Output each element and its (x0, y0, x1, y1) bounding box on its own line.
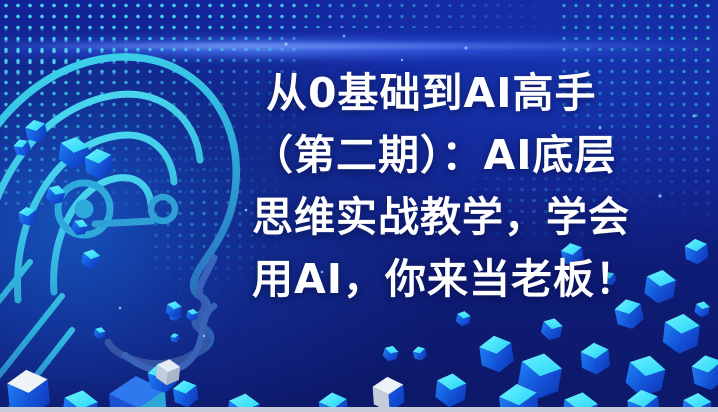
bottom-edge-strip (0, 407, 718, 412)
halftone-dot-grid-bright (0, 24, 180, 84)
title-line-1: 从0基础到AI高手 (252, 62, 704, 124)
title-line-4: 用AI，你来当老板！ (252, 248, 704, 310)
title-line-3: 思维实战教学，学会 (252, 186, 704, 248)
title-line-2: （第二期）：AI底层 (252, 124, 704, 186)
promo-poster: 从0基础到AI高手 （第二期）：AI底层 思维实战教学，学会 用AI，你来当老板… (0, 0, 718, 412)
poster-title: 从0基础到AI高手 （第二期）：AI底层 思维实战教学，学会 用AI，你来当老板… (252, 62, 704, 310)
